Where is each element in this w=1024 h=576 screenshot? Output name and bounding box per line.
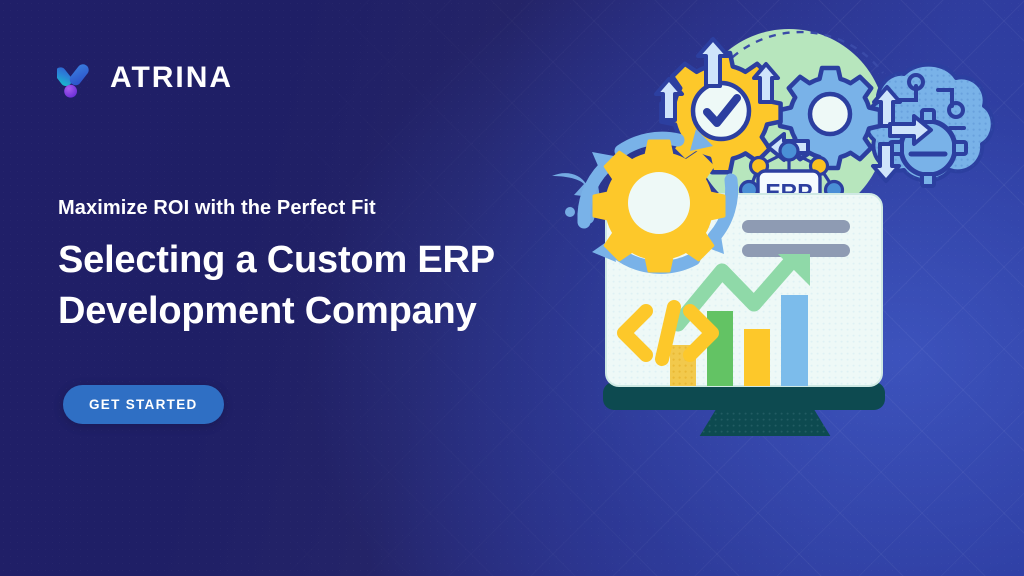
page-title: Selecting a Custom ERP Development Compa… bbox=[58, 235, 578, 336]
chart-bar bbox=[744, 329, 770, 389]
brand-name: ATRINA bbox=[110, 63, 233, 93]
chart-bar bbox=[781, 295, 808, 389]
get-started-button[interactable]: GET STARTED bbox=[63, 385, 224, 424]
hero-eyebrow: Maximize ROI with the Perfect Fit bbox=[58, 196, 578, 221]
brand-logo[interactable]: ATRINA bbox=[57, 57, 233, 99]
node-icon bbox=[780, 142, 798, 160]
main-gear-icon bbox=[594, 141, 724, 271]
erp-development-illustration: ERP bbox=[546, 16, 1016, 436]
hero-copy: Maximize ROI with the Perfect Fit Select… bbox=[58, 196, 578, 336]
headline-line-2: Development Company bbox=[58, 286, 578, 337]
text-bar bbox=[742, 220, 850, 233]
hero-banner: ATRINA Maximize ROI with the Perfect Fit… bbox=[0, 0, 1024, 576]
headline-line-1: Selecting a Custom ERP bbox=[58, 235, 578, 286]
atrina-caret-dot-logo-icon bbox=[57, 57, 97, 99]
